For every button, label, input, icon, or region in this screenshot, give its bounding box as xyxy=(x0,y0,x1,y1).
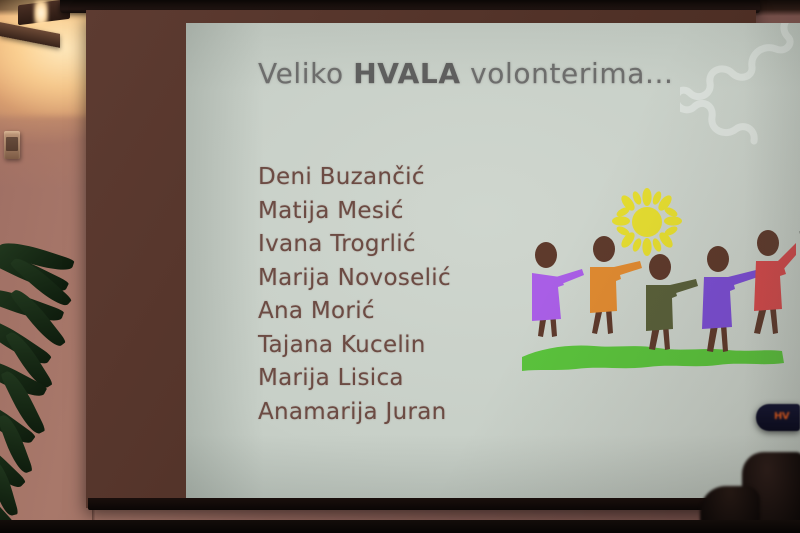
slide-title-emphasis: HVALA xyxy=(353,57,460,90)
list-item: Deni Buzančić xyxy=(258,161,451,195)
list-item: Anamarija Juran xyxy=(258,396,451,430)
puzzle-piece-icon xyxy=(680,23,800,163)
foreground-device: HV xyxy=(756,404,800,431)
foreground-floor-edge xyxy=(0,520,800,533)
list-item: Matija Mesić xyxy=(258,195,451,229)
projection-screen-frame: Veliko HVALA volonterima... Deni Buzanči… xyxy=(86,10,756,508)
child-figure-1 xyxy=(532,242,584,337)
wall-socket xyxy=(4,131,20,159)
list-item: Tajana Kucelin xyxy=(258,329,451,363)
child-figure-3 xyxy=(646,254,698,350)
list-item: Marija Lisica xyxy=(258,362,451,396)
wall-sconce-bulb xyxy=(34,0,48,26)
projection-screen-weight-bar xyxy=(88,498,764,510)
list-item: Ivana Trogrlić xyxy=(258,228,451,262)
organization-name-strip: STUDENTSKO SAVJETOVALIŠTE xyxy=(788,27,800,503)
sun-icon xyxy=(612,188,682,256)
slide-title-prefix: Veliko xyxy=(258,57,353,90)
foreground-device-label: HV xyxy=(774,411,789,422)
child-figure-4 xyxy=(702,246,758,352)
list-item: Marija Novoselić xyxy=(258,262,451,296)
children-clipart xyxy=(516,181,796,396)
projection-screen-surface: Veliko HVALA volonterima... Deni Buzanči… xyxy=(186,23,800,507)
slide-title: Veliko HVALA volonterima... xyxy=(258,57,674,90)
photo-scene: Veliko HVALA volonterima... Deni Buzanči… xyxy=(0,0,800,533)
slide-title-suffix: volonterima... xyxy=(461,57,674,90)
list-item: Ana Morić xyxy=(258,295,451,329)
volunteer-name-list: Deni Buzančić Matija Mesić Ivana Trogrli… xyxy=(258,161,451,429)
